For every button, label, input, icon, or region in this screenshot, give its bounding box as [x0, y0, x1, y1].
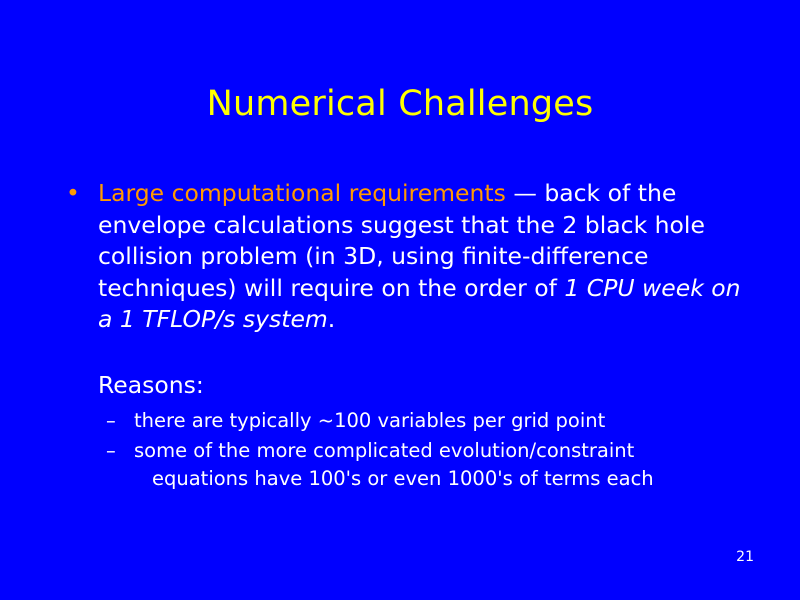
- sub-item-text-continued: equations have 100's or even 1000's of t…: [134, 465, 778, 493]
- bullet-dot-icon: •: [66, 178, 80, 210]
- list-item: – some of the more complicated evolution…: [98, 437, 778, 493]
- list-item: – there are typically ~100 variables per…: [98, 407, 778, 435]
- bullet-highlight-text: Large computational requirements: [98, 179, 506, 207]
- page-title: Numerical Challenges: [0, 82, 800, 126]
- reasons-section: Reasons: – there are typically ~100 vari…: [98, 370, 778, 493]
- en-dash-icon: –: [106, 407, 116, 435]
- reasons-heading: Reasons:: [98, 370, 778, 401]
- list-item: • Large computational requirements — bac…: [62, 178, 762, 336]
- slide-body: • Large computational requirements — bac…: [62, 178, 762, 336]
- sub-item-text: there are typically ~100 variables per g…: [134, 409, 605, 432]
- en-dash-icon: –: [106, 437, 116, 465]
- sub-item-text: some of the more complicated evolution/c…: [134, 439, 634, 462]
- page-number: 21: [736, 548, 754, 566]
- bullet-tail-text: .: [328, 305, 335, 333]
- slide-canvas: Numerical Challenges • Large computation…: [0, 0, 800, 600]
